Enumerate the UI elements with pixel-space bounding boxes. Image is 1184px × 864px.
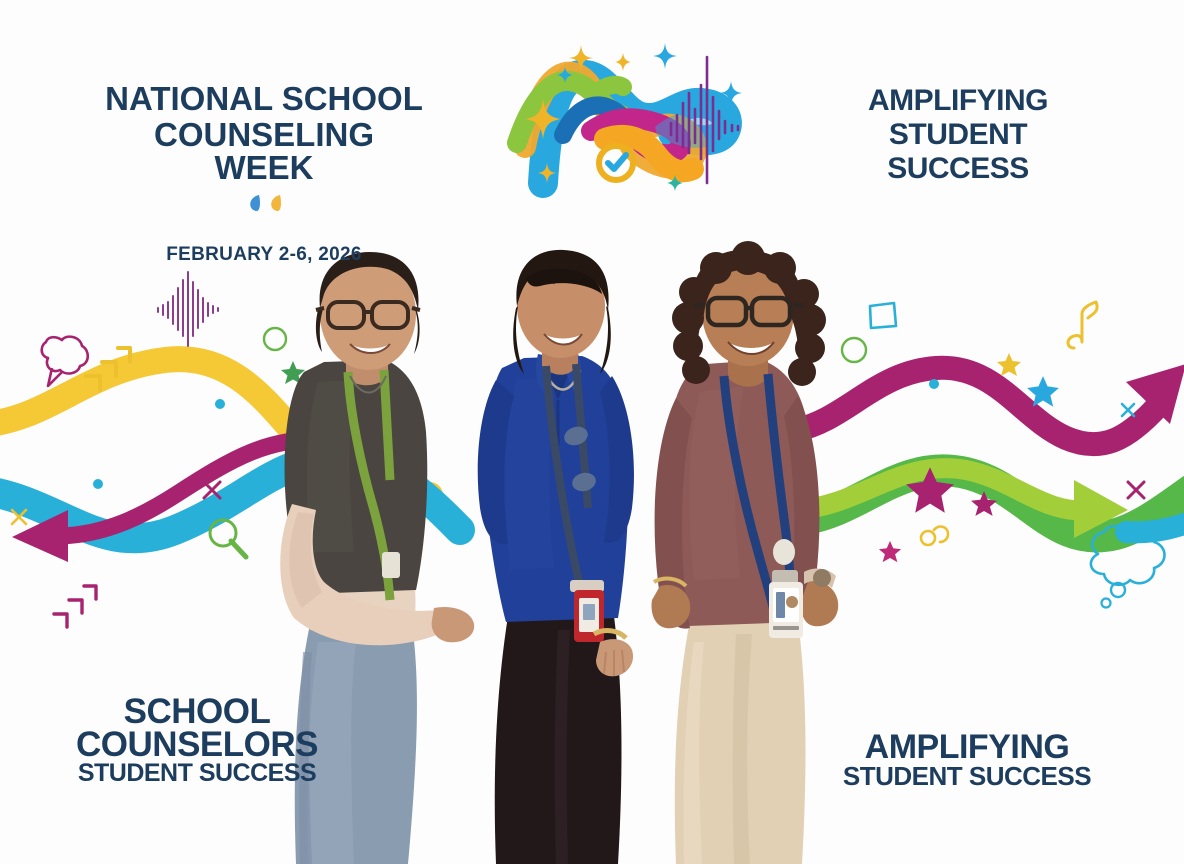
x-mark-doodle-cyan: [1118, 400, 1138, 420]
title-accent-dots: [104, 193, 424, 213]
bottom-left-line-3: STUDENT SUCCESS: [62, 761, 332, 787]
dot-doodle-cyan: [92, 478, 104, 490]
chevron-stack-doodle-magenta: [48, 580, 110, 640]
date-line: FEBRUARY 2-6, 2026: [104, 244, 424, 266]
nscw-soundwave-logo: [495, 35, 765, 215]
chevron-stack-doodle-yellow: [78, 340, 144, 402]
audio-waveform-doodle: [150, 270, 230, 350]
tagline-top-line-2: STUDENT: [838, 118, 1078, 152]
dot-blue-leaf: [246, 193, 262, 213]
bottom-right-line-2: STUDENT SUCCESS: [836, 763, 1098, 790]
dot-doodle-cyan: [214, 398, 226, 410]
bottom-left-tagline: SCHOOL COUNSELORS STUDENT SUCCESS: [62, 694, 332, 787]
tagline-top-line-1: AMPLIFYING: [838, 84, 1078, 118]
star-doodle-cyan: [1026, 375, 1060, 409]
title-line-1: NATIONAL SCHOOL: [104, 82, 424, 116]
bottom-right-tagline: AMPLIFYING STUDENT SUCCESS: [836, 730, 1098, 789]
star-doodle-magenta-large: [905, 465, 955, 515]
music-note-doodle: [1062, 300, 1104, 356]
tagline-top-line-3: SUCCESS: [838, 152, 1078, 186]
bottom-right-line-1: AMPLIFYING: [836, 730, 1098, 765]
dot-doodle-cyan: [928, 378, 940, 390]
magnifier-doodle: [206, 516, 252, 562]
x-mark-doodle-yellow: [8, 506, 30, 528]
dot-yellow-leaf: [267, 193, 283, 213]
rings-doodle-yellow: [918, 522, 952, 548]
x-mark-doodle-magenta: [1124, 478, 1148, 502]
poster-canvas: NATIONAL SCHOOL COUNSELING WEEK FEBRUARY…: [0, 0, 1184, 864]
star-doodle-yellow: [996, 352, 1022, 378]
bottom-left-line-2: COUNSELORS: [62, 727, 332, 763]
star-doodle-magenta-small: [970, 490, 998, 518]
thought-bubble-doodle: [1078, 508, 1174, 612]
x-mark-doodle-magenta: [200, 478, 224, 502]
title-block: NATIONAL SCHOOL COUNSELING WEEK FEBRUARY…: [104, 82, 424, 266]
title-line-2: COUNSELING WEEK: [104, 118, 424, 185]
tagline-top-right: AMPLIFYING STUDENT SUCCESS: [838, 84, 1078, 187]
